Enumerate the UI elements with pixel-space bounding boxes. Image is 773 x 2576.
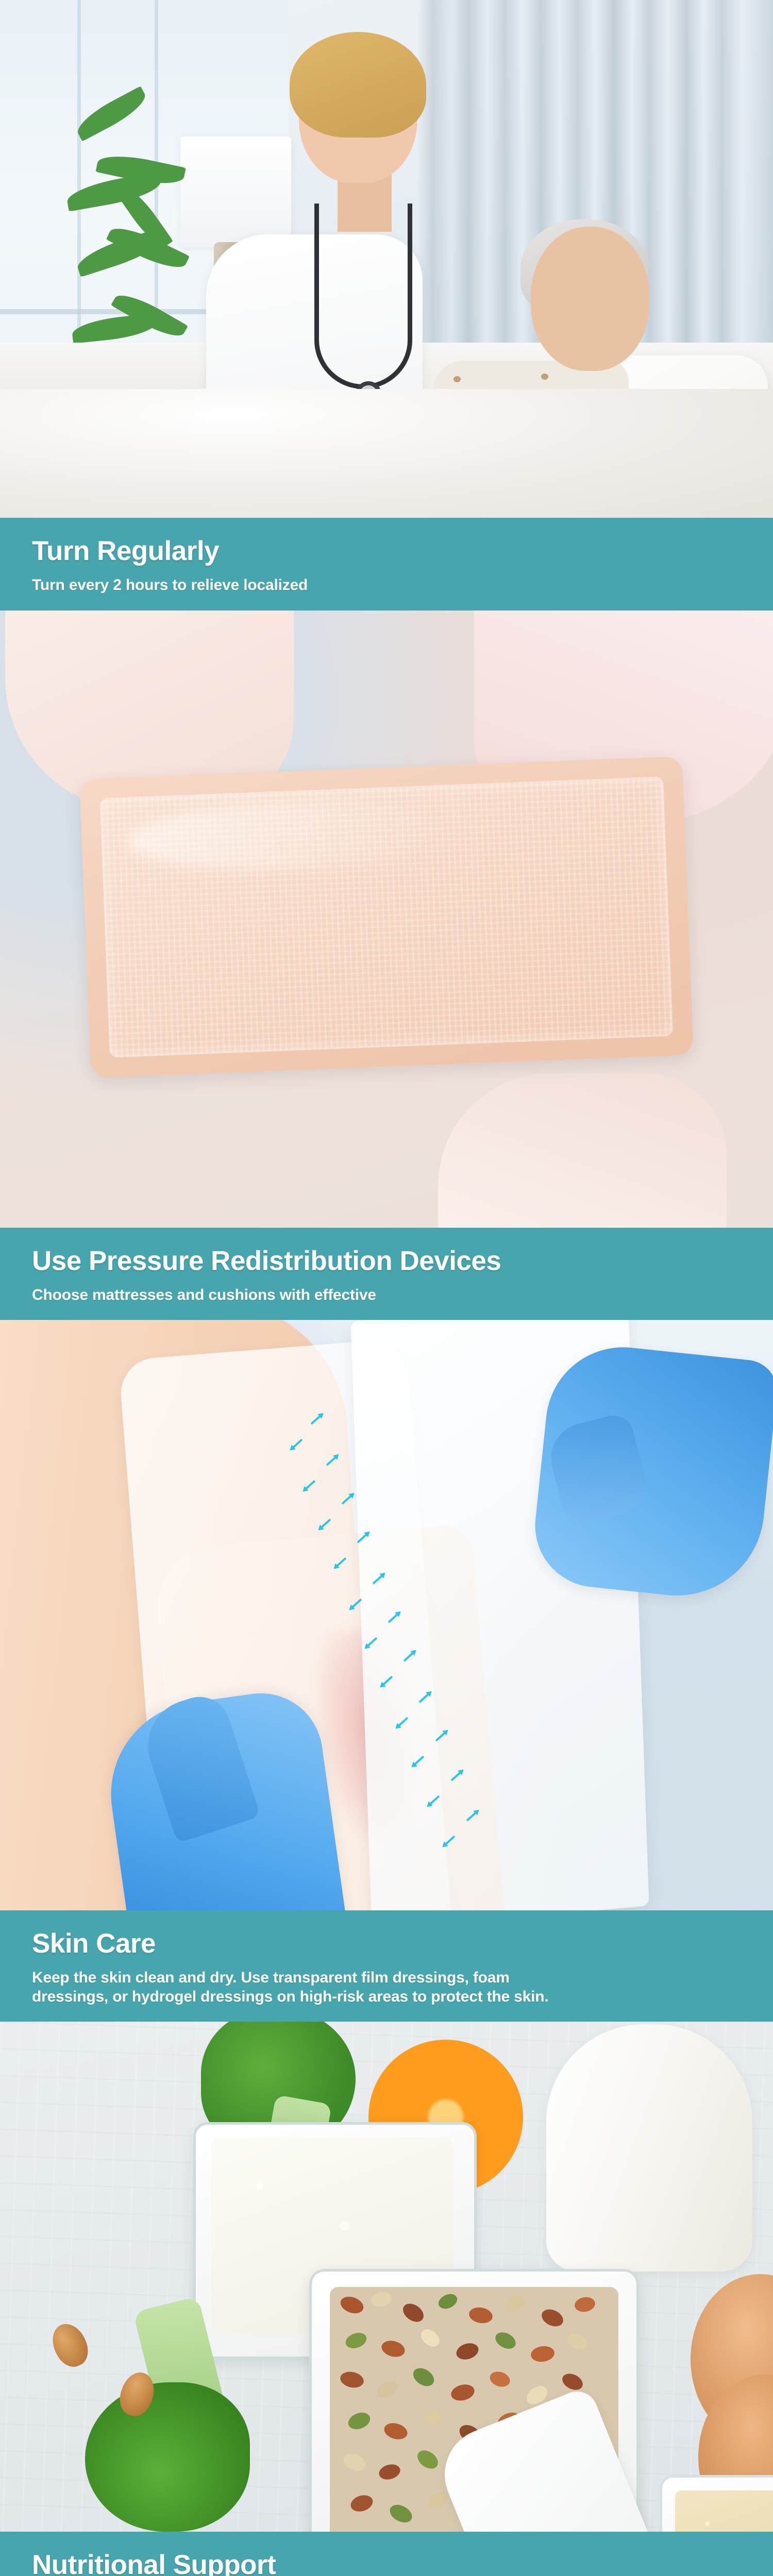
photo-film-dressing xyxy=(0,1320,773,1910)
patient-head xyxy=(531,227,649,371)
caption-band-4: Nutritional Support Provide a diet rich … xyxy=(0,2532,773,2576)
section-turn-regularly: Turn Regularly Turn every 2 hours to rel… xyxy=(0,0,773,611)
section-nutritional-support: Nutritional Support Provide a diet rich … xyxy=(0,2022,773,2576)
section-use-pressure-redistribution-devices: Use Pressure Redistribution Devices Choo… xyxy=(0,611,773,1320)
infographic-page: Turn Regularly Turn every 2 hours to rel… xyxy=(0,0,773,2576)
caption-band-3: Skin Care Keep the skin clean and dry. U… xyxy=(0,1910,773,2022)
subtitle-line: Choose mattresses and cushions with effe… xyxy=(32,1286,741,1305)
section-subtitle: Turn every 2 hours to relieve localized xyxy=(32,576,741,595)
subtitle-line: dressings, or hydrogel dressings on high… xyxy=(32,1988,741,2007)
section-title: Use Pressure Redistribution Devices xyxy=(32,1247,741,1275)
photo-hospital-room xyxy=(0,0,773,518)
subtitle-line: Keep the skin clean and dry. Use transpa… xyxy=(32,1969,741,1988)
caption-band-2: Use Pressure Redistribution Devices Choo… xyxy=(0,1228,773,1320)
bed-sheet xyxy=(0,389,773,518)
section-title: Skin Care xyxy=(32,1930,741,1957)
section-subtitle: Keep the skin clean and dry. Use transpa… xyxy=(32,1969,741,2006)
caption-band-1: Turn Regularly Turn every 2 hours to rel… xyxy=(0,518,773,611)
stethoscope-icon xyxy=(314,204,412,389)
section-title: Nutritional Support xyxy=(32,2551,741,2576)
grains xyxy=(675,2490,773,2532)
subtitle-line: Turn every 2 hours to relieve localized xyxy=(32,576,741,595)
photo-foam-dressing xyxy=(0,611,773,1228)
broccoli-front xyxy=(85,2382,250,2532)
section-subtitle: Choose mattresses and cushions with effe… xyxy=(32,1286,741,1305)
section-title: Turn Regularly xyxy=(32,537,741,565)
milk-jug xyxy=(546,2024,752,2272)
foam-dressing-pad xyxy=(79,756,693,1077)
photo-nutrition-foods xyxy=(0,2022,773,2532)
doctor-hair xyxy=(290,32,426,138)
section-skin-care: Skin Care Keep the skin clean and dry. U… xyxy=(0,1320,773,2022)
